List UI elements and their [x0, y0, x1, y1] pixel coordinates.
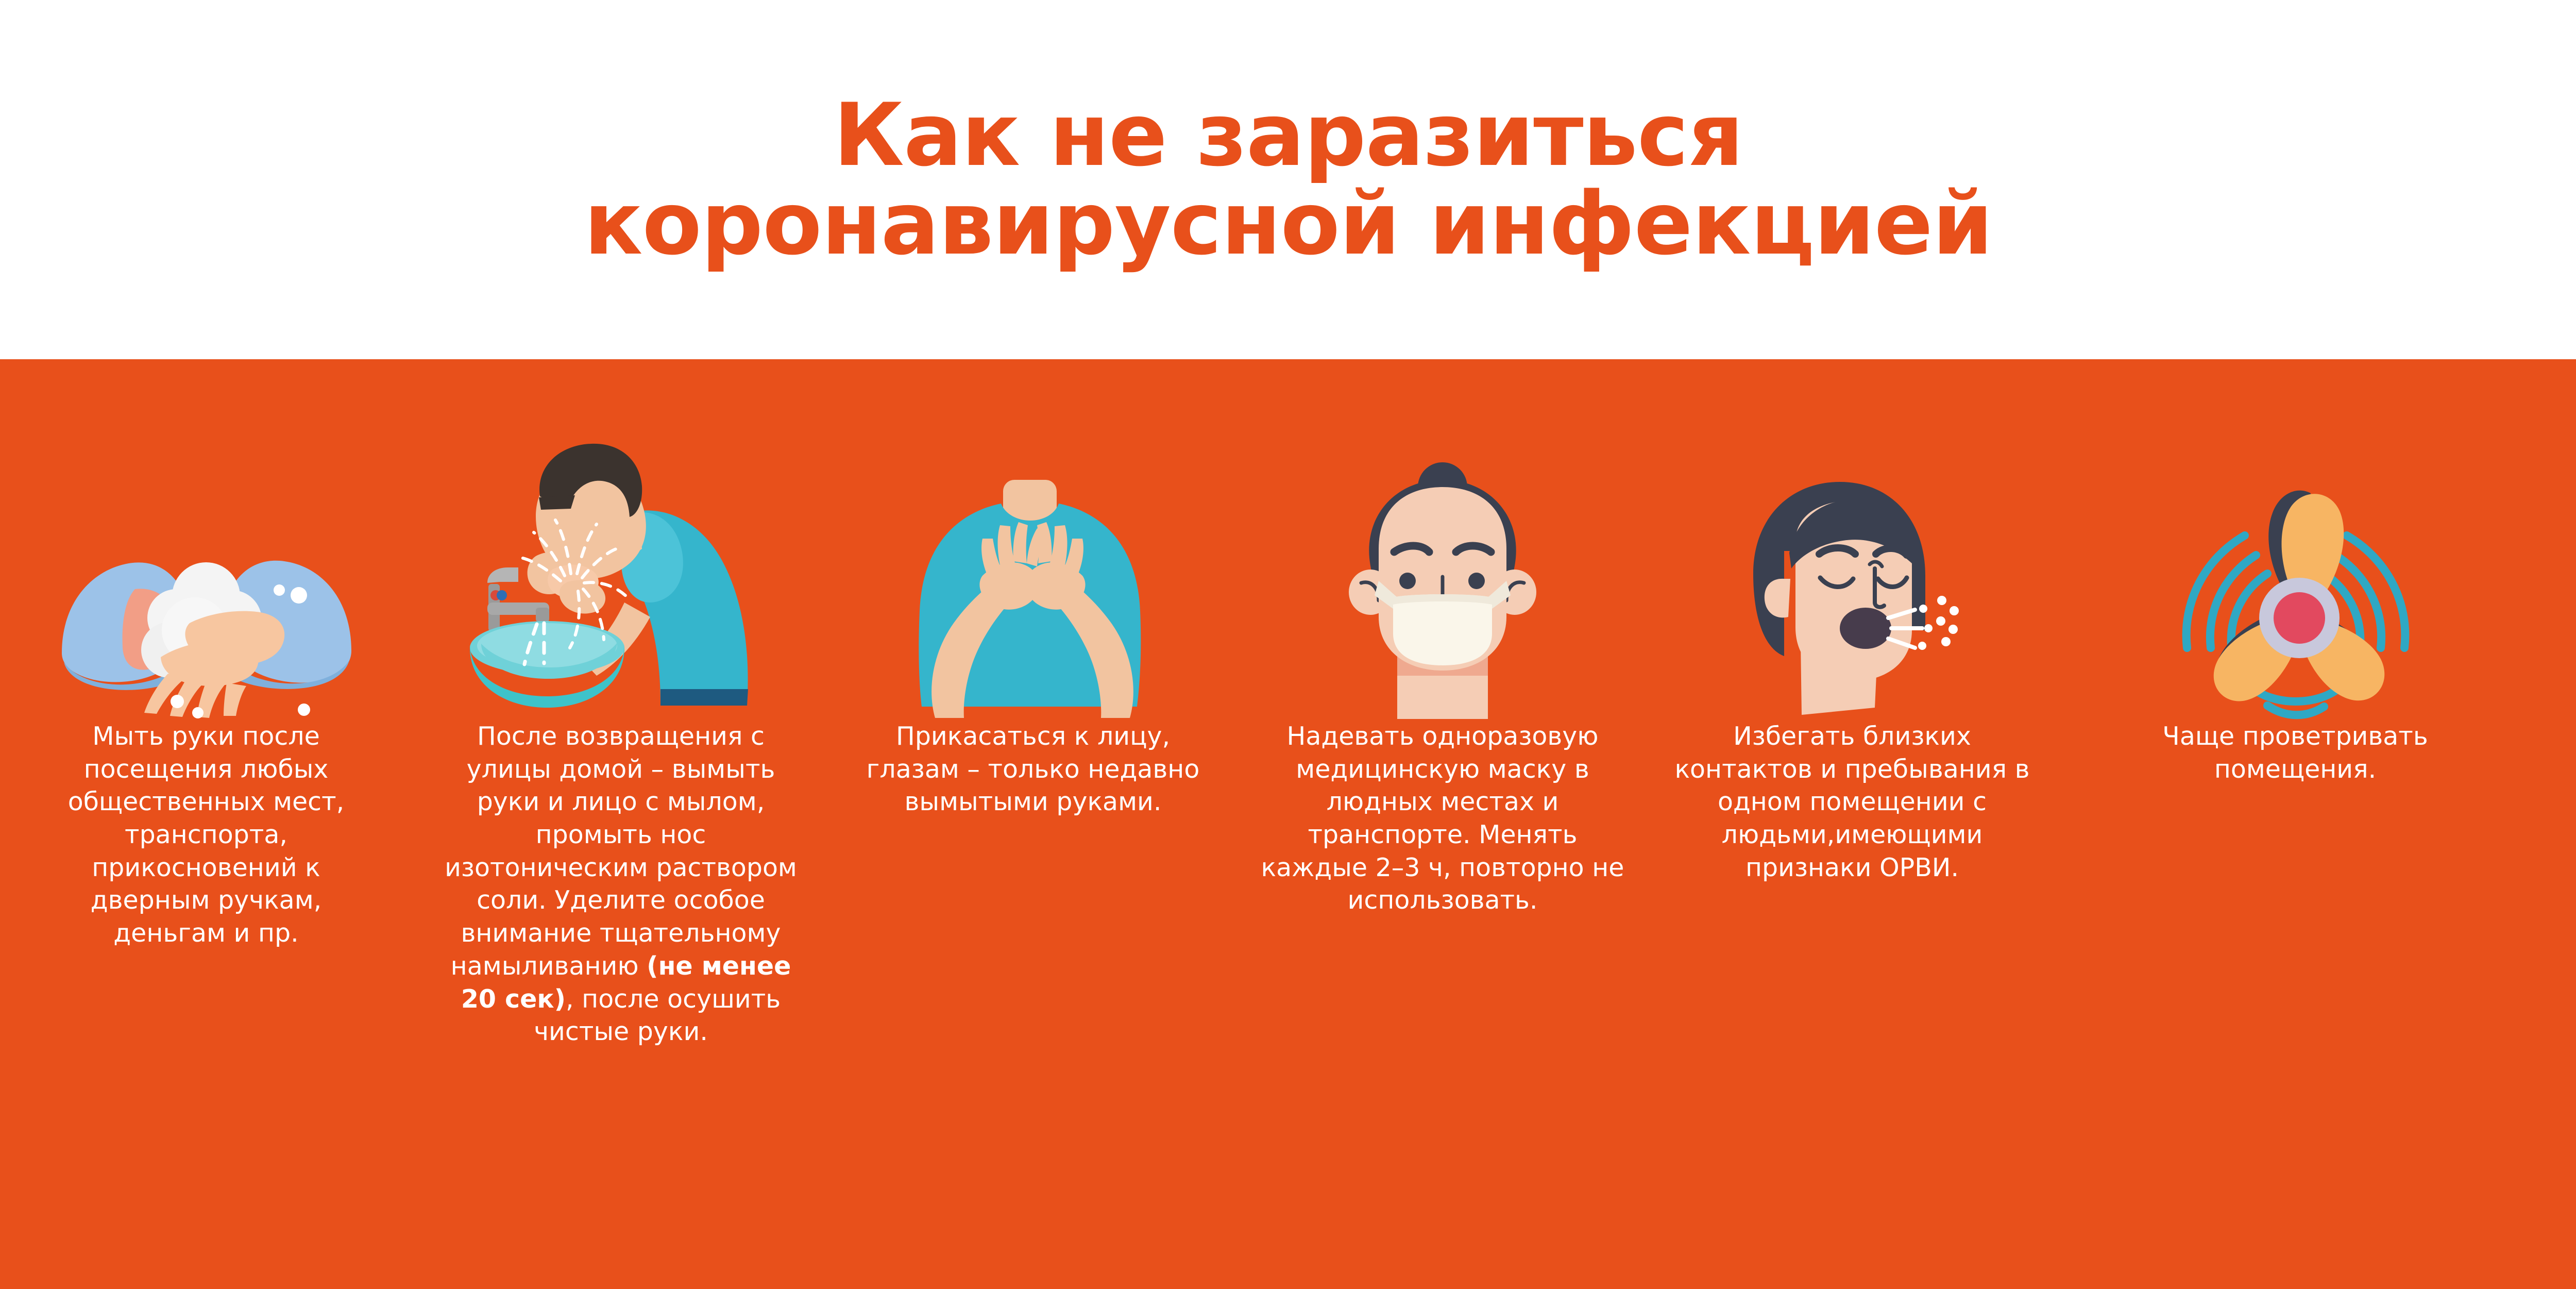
tip-card-wash-face: После возвращения с улицы домой – вымыть…: [412, 359, 829, 1048]
tip-caption-dont-touch-face: Прикасаться к лицу, глазам – только неда…: [848, 720, 1218, 818]
illustration-clean-hands: [829, 359, 1236, 720]
tip-caption-wash-hands: Мыть руки после посещения любых обществе…: [62, 720, 350, 950]
tip-card-avoid-contact: Избегать близких контактов и пребывания …: [1649, 359, 2056, 884]
tip-card-wash-hands: Мыть руки после посещения любых обществе…: [0, 359, 412, 950]
tips-column-container: Мыть руки после посещения любых обществе…: [0, 359, 2576, 1289]
illustration-wash-face: [412, 359, 829, 720]
sneezing-person-icon: [1723, 473, 1981, 720]
illustration-fan: [2056, 359, 2535, 720]
illustration-mask: [1236, 359, 1649, 720]
tip-caption-avoid-contact: Избегать близких контактов и пребывания …: [1662, 720, 2043, 884]
tip-text-part2: , после осушить чистые руки.: [534, 984, 781, 1047]
illustration-wash-hands: [0, 359, 412, 720]
tip-caption-wash-face: После возвращения с улицы домой – вымыть…: [430, 720, 811, 1048]
hands-washing-with-soap-icon: [46, 431, 366, 720]
tip-caption-ventilate: Чаще проветривать помещения.: [2110, 720, 2481, 785]
tip-card-dont-touch-face: Прикасаться к лицу, глазам – только неда…: [829, 359, 1236, 818]
page-title: Как не заразиться коронавирусной инфекци…: [584, 91, 1993, 268]
face-with-medical-mask-icon: [1329, 457, 1556, 720]
tip-caption-wear-mask: Надевать одноразовую медицинскую маску в…: [1257, 720, 1628, 917]
person-raising-clean-hands-icon: [904, 473, 1162, 720]
tip-card-wear-mask: Надевать одноразовую медицинскую маску в…: [1236, 359, 1649, 917]
illustration-sneezing: [1649, 359, 2056, 720]
ventilation-fan-icon: [2172, 478, 2419, 720]
header-banner: Как не заразиться коронавирусной инфекци…: [0, 0, 2576, 359]
person-washing-face-at-sink-icon: [459, 421, 783, 720]
tip-card-ventilate: Чаще проветривать помещения.: [2056, 359, 2535, 785]
tip-text-part1: После возвращения с улицы домой – вымыть…: [445, 722, 797, 981]
tips-board: Мыть руки после посещения любых обществе…: [0, 359, 2576, 1289]
